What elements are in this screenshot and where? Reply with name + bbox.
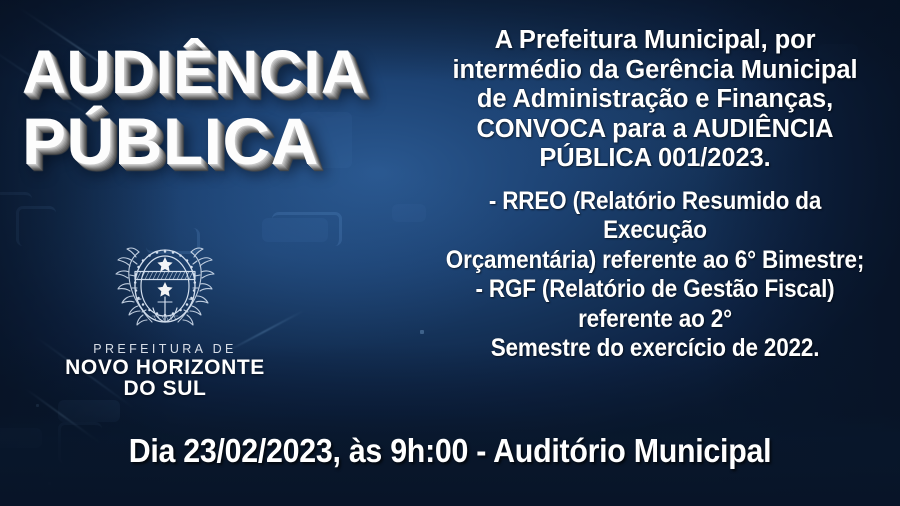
logo-prefix-text: PREFEITURA DE <box>34 342 296 356</box>
poster-headline: AUDIÊNCIA PÚBLICA <box>22 44 432 173</box>
wreath-right-branch <box>178 248 214 325</box>
wreath-left-branch <box>116 248 152 325</box>
headline-line-1: AUDIÊNCIA <box>22 44 432 102</box>
coat-of-arms-icon <box>109 236 221 340</box>
report-item-line-3: - RGF (Relatório de Gestão Fiscal) refer… <box>442 275 869 334</box>
announcement-paragraph-1: A Prefeitura Municipal, por intermédio d… <box>418 26 892 174</box>
announcement-report-items: - RREO (Relatório Resumido da Execução O… <box>442 187 869 364</box>
para1-line-5: PÚBLICA 001/2023. <box>539 144 770 172</box>
crest-star-top <box>157 257 172 272</box>
para1-line-2: intermédio da Gerência Municipal <box>453 56 858 84</box>
logo-city-name: NOVO HORIZONTE DO SUL <box>34 357 296 400</box>
para1-line-1: A Prefeitura Municipal, por <box>495 26 816 54</box>
report-item-line-2: Orçamentária) referente ao 6° Bimestre; <box>442 246 869 276</box>
poster-canvas: AUDIÊNCIA PÚBLICA <box>0 0 900 506</box>
report-item-line-4: Semestre do exercício de 2022. <box>442 334 869 364</box>
report-item-line-1: - RREO (Relatório Resumido da Execução <box>442 187 869 246</box>
headline-line-2: PÚBLICA <box>22 110 432 173</box>
announcement-body: A Prefeitura Municipal, por intermédio d… <box>418 26 892 364</box>
logo-city-line-2: DO SUL <box>34 378 296 399</box>
para1-line-4: CONVOCA para a AUDIÊNCIA <box>476 115 833 143</box>
footer-date-venue: Dia 23/02/2023, às 9h:00 - Auditório Mun… <box>36 432 864 470</box>
crest-stem <box>153 297 177 322</box>
municipality-logo: PREFEITURA DE NOVO HORIZONTE DO SUL <box>34 236 296 400</box>
logo-city-line-1: NOVO HORIZONTE <box>34 357 296 378</box>
crest-star-bottom <box>157 282 172 297</box>
para1-line-3: de Administração e Finanças, <box>477 85 833 113</box>
